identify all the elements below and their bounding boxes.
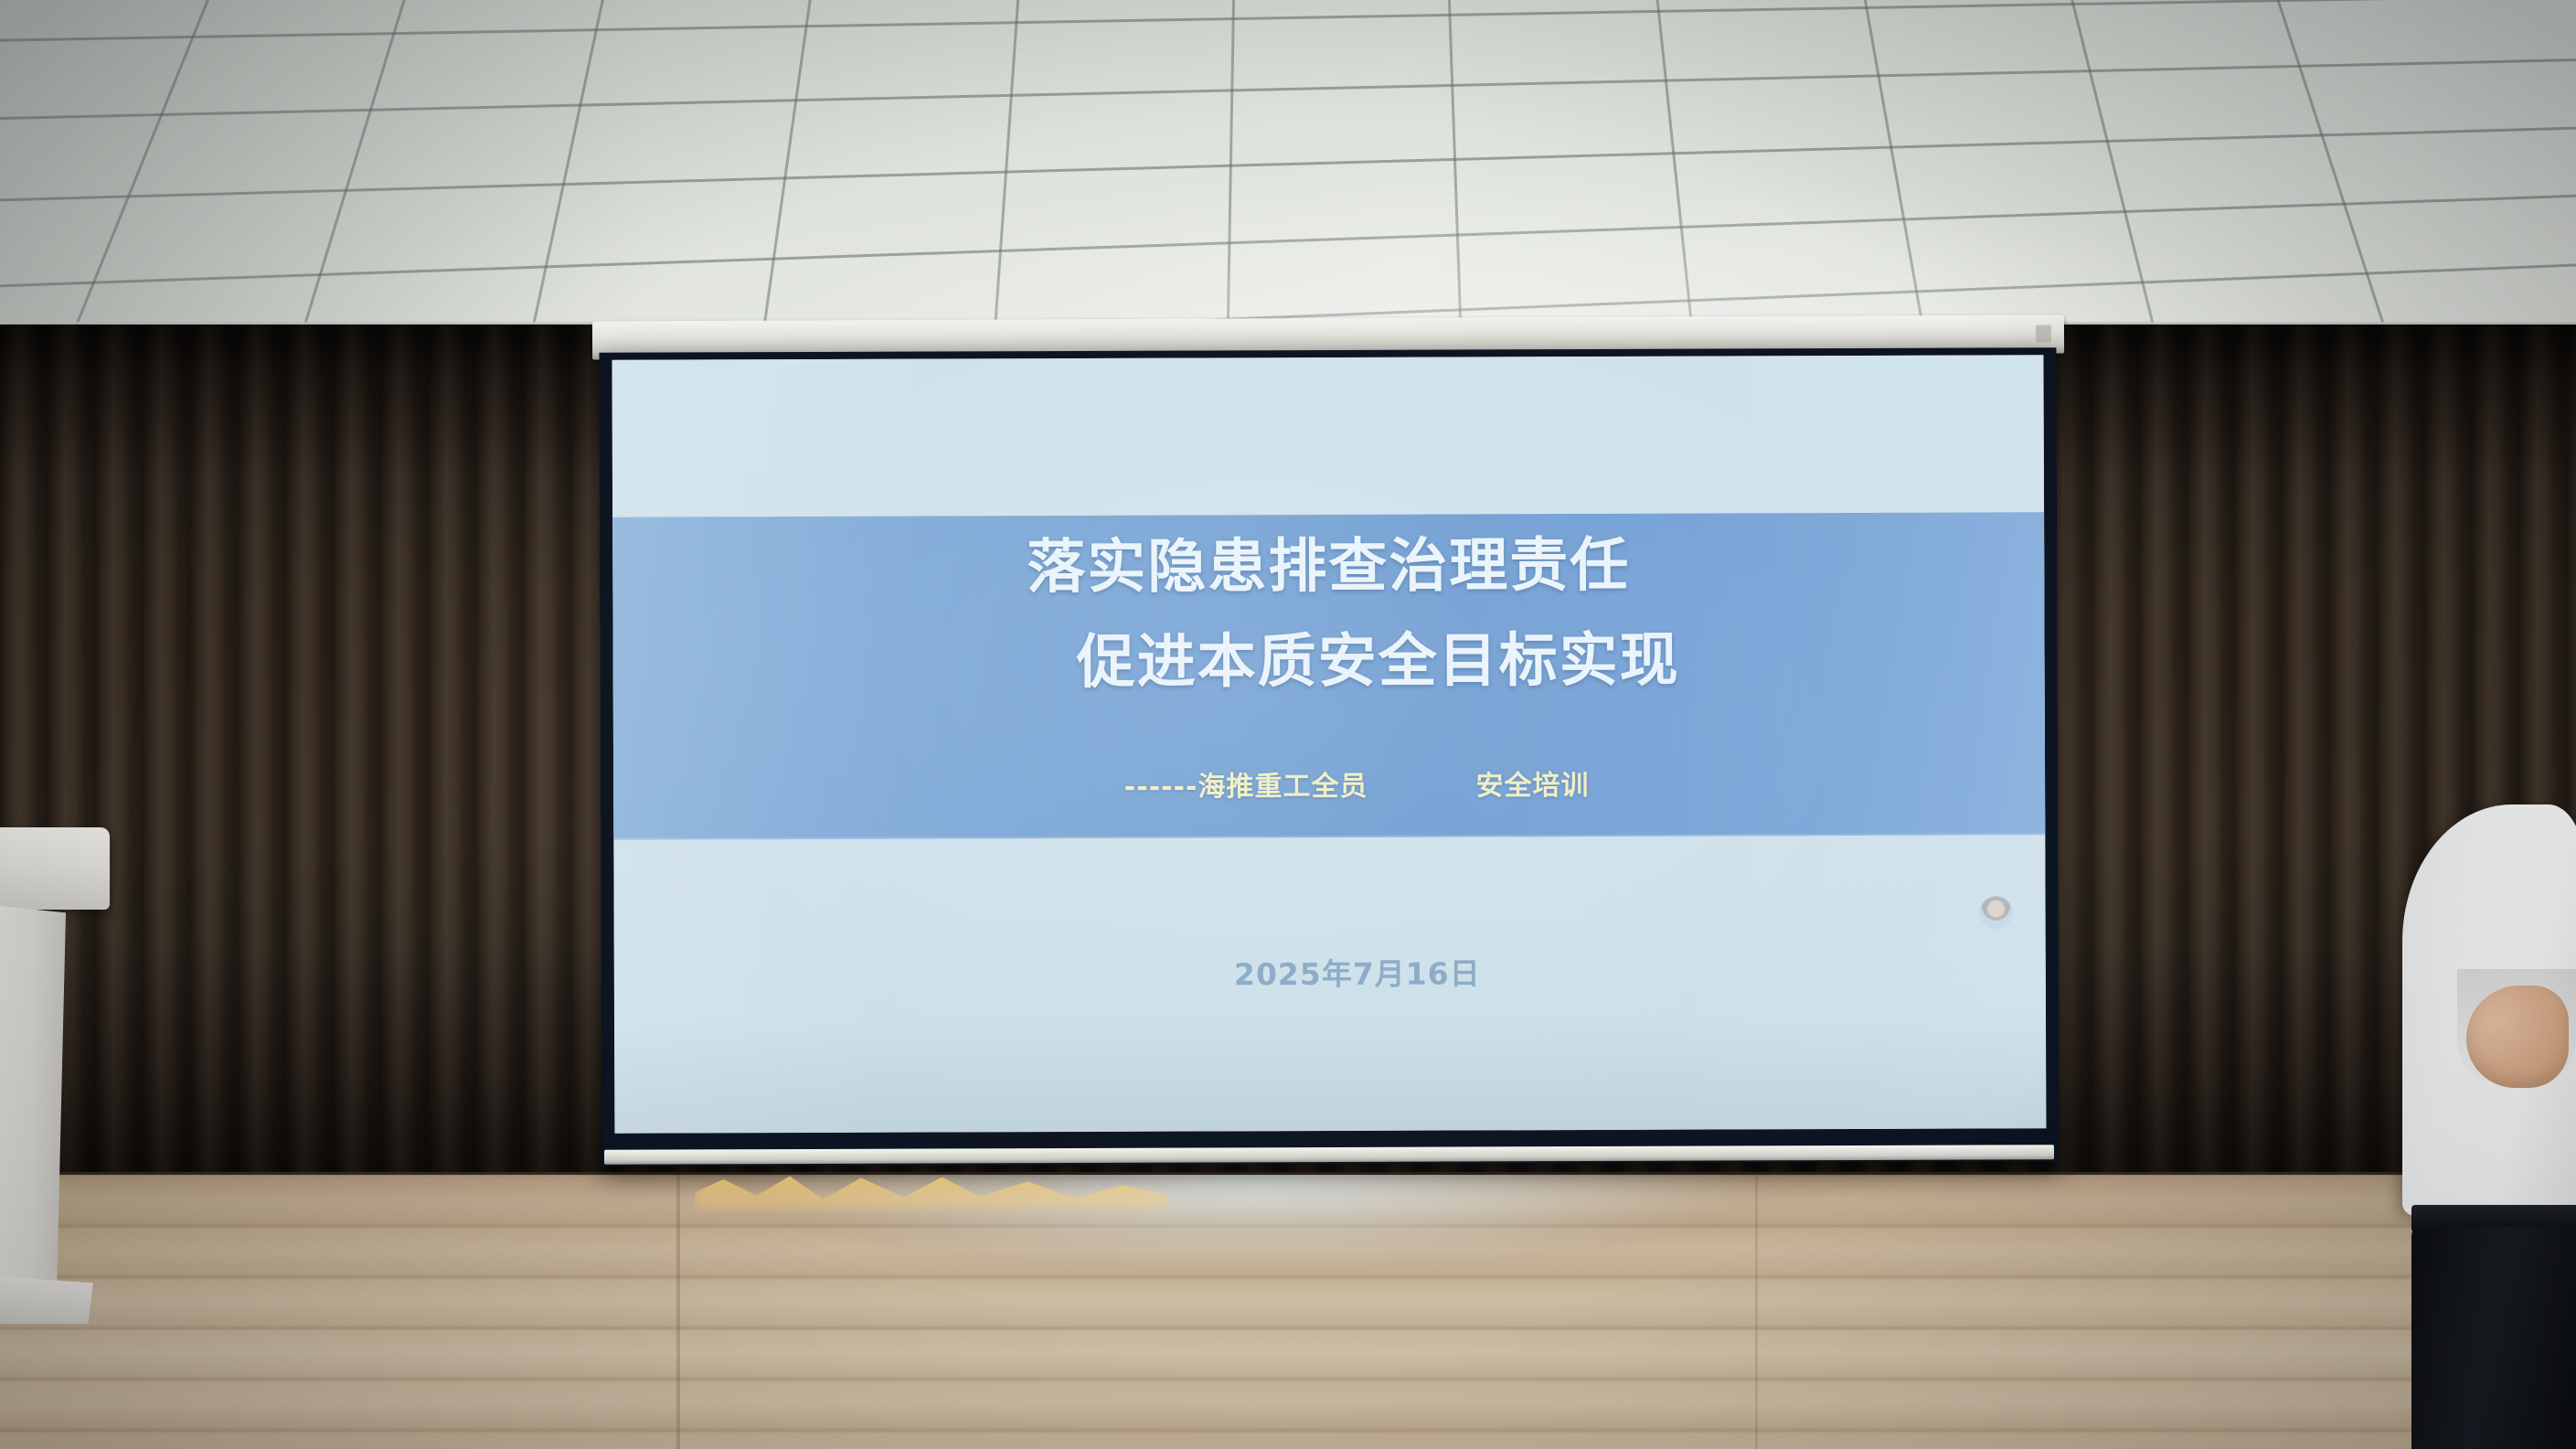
presentation-slide: 落实隐患排查治理责任 促进本质安全目标实现 ------海推重工全员 安全培训 … [612,355,2046,1133]
projector-screen-surface: 落实隐患排查治理责任 促进本质安全目标实现 ------海推重工全员 安全培训 … [612,355,2046,1133]
lectern-body[interactable] [0,905,66,1289]
slide-title-line-1: 落实隐患排查治理责任 [612,534,2044,601]
slide-subtitle-topic: 安全培训 [1475,762,1589,803]
acoustic-tile-ceiling [0,0,2576,366]
ceiling-shading [0,0,2576,366]
projector-screen[interactable]: 落实隐患排查治理责任 促进本质安全目标实现 ------海推重工全员 安全培训 … [599,347,2059,1167]
attendee-arm [2466,986,2569,1088]
standing-attendee [2393,804,2576,1449]
slide-subtitle-row: ------海推重工全员 安全培训 [613,761,2045,805]
conference-room-scene: 落实隐患排查治理责任 促进本质安全目标实现 ------海推重工全员 安全培训 … [0,0,2576,1449]
slide-title-line-2: 促进本质安全目标实现 [613,629,2045,696]
attendee-pants [2411,1227,2576,1449]
slide-date: 2025年7月16日 [614,947,2046,996]
slide-subtitle-organization: ------海推重工全员 [1124,763,1368,804]
wood-laminate-floor [0,1175,2576,1449]
housing-endcap [2036,325,2051,343]
lectern-base [0,1276,93,1324]
presenter-avatar-icon [1980,896,2013,929]
lectern-top[interactable] [0,827,110,910]
